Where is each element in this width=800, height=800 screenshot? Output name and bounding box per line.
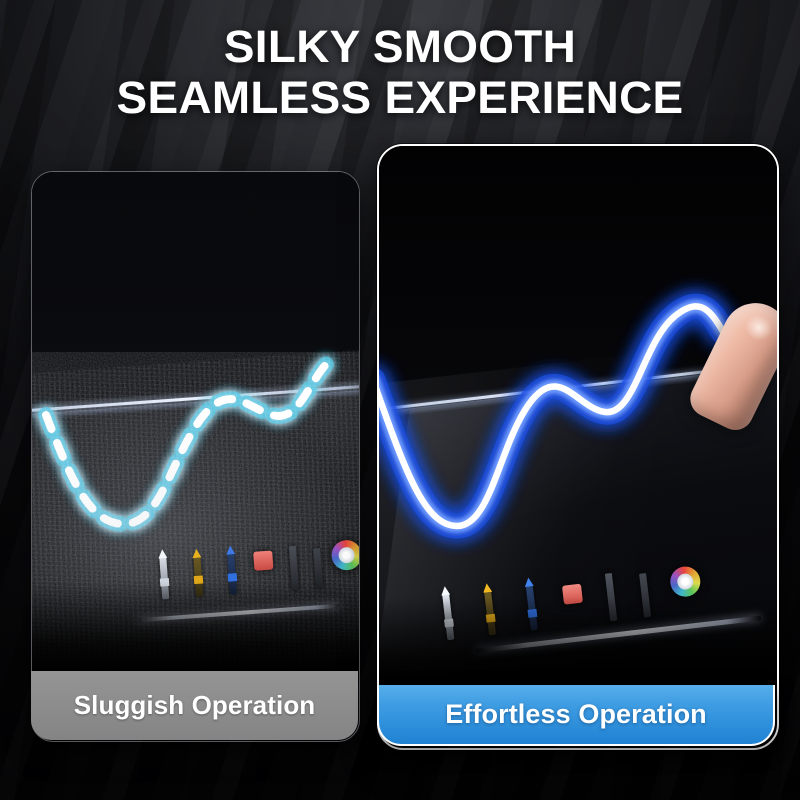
before-label-text: Sluggish Operation [74,690,316,721]
color-wheel-icon [669,565,702,598]
tool-red-eraser [253,550,273,570]
yellow-pencil-tip-icon [482,583,492,593]
after-label-text: Effortless Operation [445,699,707,730]
after-photo [379,146,777,687]
headline-line-2: SEAMLESS EXPERIENCE [0,73,800,124]
page-title: SILKY SMOOTH SEAMLESS EXPERIENCE [0,22,800,124]
before-photo [32,172,359,671]
headline-line-1: SILKY SMOOTH [0,22,800,73]
color-wheel-icon [331,539,359,571]
after-label: Effortless Operation [377,685,775,746]
blue-pen-tip-icon [226,545,236,555]
after-panel [377,144,779,750]
white-pen-tip-icon [440,586,450,596]
white-pen-tip-icon [158,549,168,559]
blue-pen-tip-icon [524,577,534,587]
before-table-shadow [32,581,359,671]
promo-poster: SILKY SMOOTH SEAMLESS EXPERIENCE [0,0,800,800]
after-table-shadow [379,597,777,687]
before-label: Sluggish Operation [31,671,358,740]
before-panel [31,171,360,742]
yellow-pencil-tip-icon [192,549,202,559]
